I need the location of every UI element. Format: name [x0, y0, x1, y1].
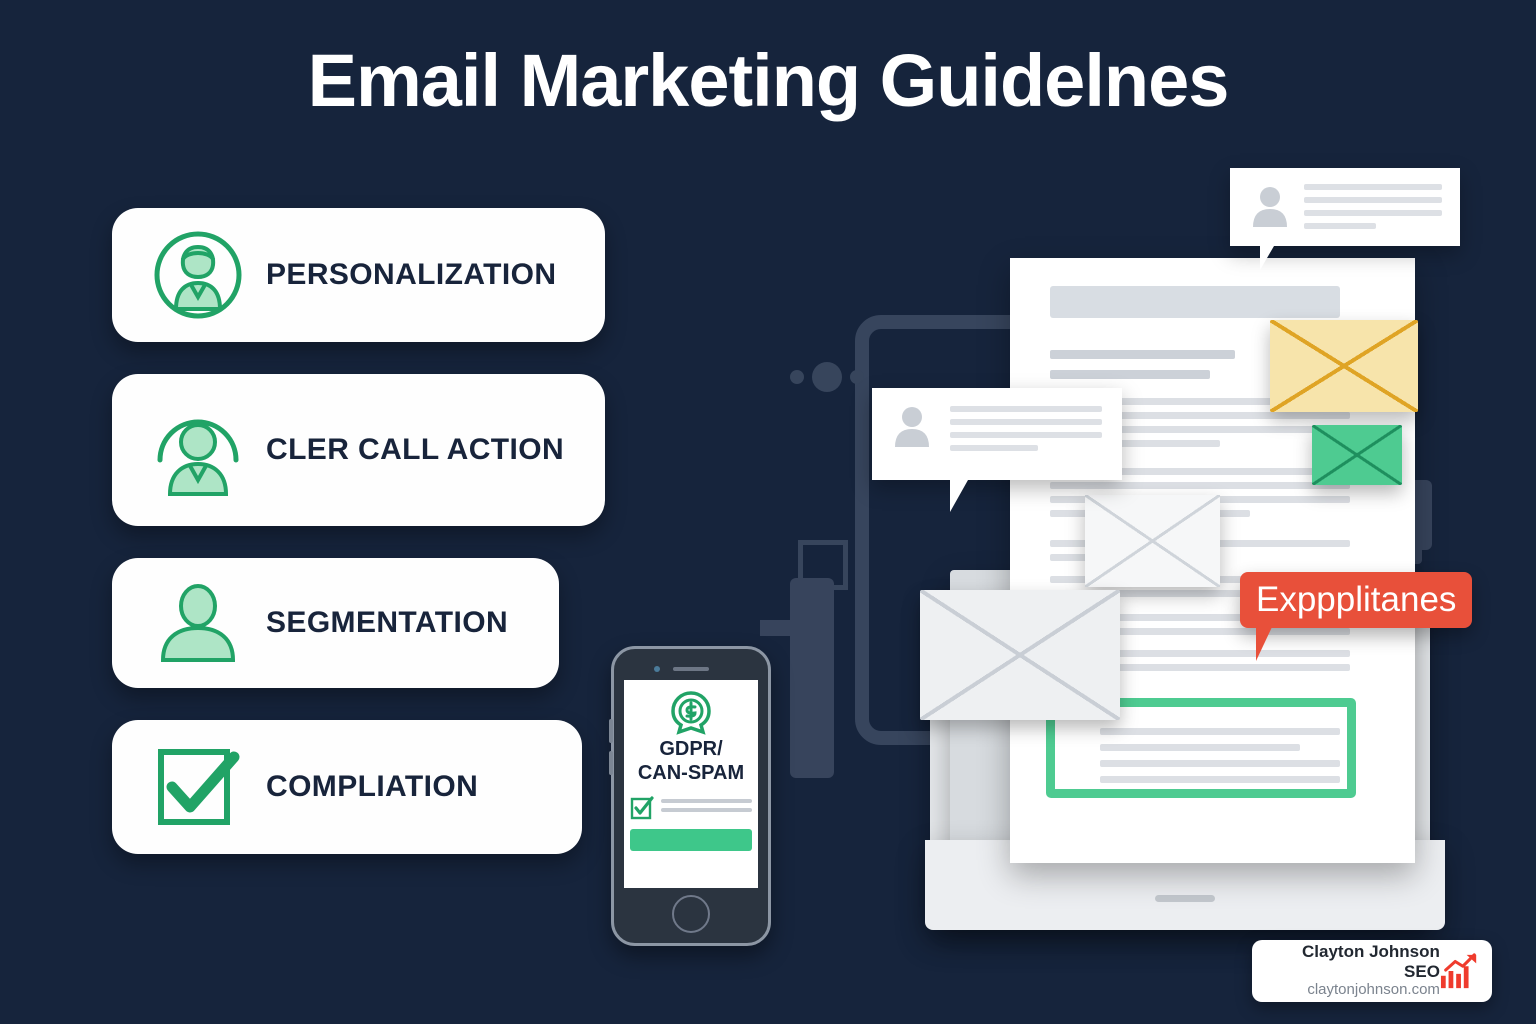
- dot-decor-3: [850, 370, 864, 384]
- bar-decor-1: [790, 578, 834, 778]
- feature-card-label: SEGMENTATION: [266, 606, 508, 640]
- bubble-tail: [1260, 246, 1274, 270]
- comment-bubble-top: [1230, 168, 1460, 246]
- phone-home-button[interactable]: [672, 895, 710, 933]
- phone-mockup[interactable]: GDPR/ CAN-SPAM: [611, 646, 771, 946]
- cta-line: [1100, 760, 1340, 767]
- envelope-fold: [1270, 320, 1418, 412]
- feature-card-list: PERSONALIZATION CLER CALL ACTION SEG: [112, 208, 605, 886]
- brand-url: claytonjohnson.com: [1270, 981, 1440, 1000]
- cta-line: [1100, 776, 1340, 783]
- doc-line: [1050, 350, 1235, 359]
- phone-title-line1: GDPR/: [659, 738, 722, 760]
- email-illustration: Exppplitanes: [760, 140, 1536, 930]
- phone-submit-button[interactable]: [630, 829, 752, 851]
- phone-consent-text-lines: [661, 799, 752, 817]
- feature-card-personalization[interactable]: PERSONALIZATION: [112, 208, 605, 342]
- checkbox-check-icon: [146, 735, 250, 839]
- doc-line: [1050, 482, 1350, 489]
- dot-decor-2: [812, 362, 842, 392]
- phone-volume-down-button[interactable]: [609, 751, 613, 775]
- cta-line: [1100, 744, 1300, 751]
- avatar-icon: [1250, 185, 1290, 227]
- envelope-fold: [920, 590, 1120, 720]
- avatar-icon: [892, 405, 932, 447]
- cta-line: [1100, 728, 1340, 735]
- brand-name: Clayton Johnson SEO: [1270, 942, 1440, 981]
- phone-camera-icon: [654, 666, 660, 672]
- user-icon: [146, 571, 250, 675]
- bar-chart-arrow-icon: [1440, 952, 1478, 990]
- feature-card-segmentation[interactable]: SEGMENTATION: [112, 558, 559, 688]
- bar-decor-2: [760, 620, 810, 636]
- feature-card-label: PERSONALIZATION: [266, 258, 556, 292]
- phone-consent-row[interactable]: [630, 796, 752, 820]
- phone-speaker: [673, 667, 709, 671]
- page-title: Email Marketing Guidelnes: [0, 38, 1536, 123]
- doc-header-block: [1050, 286, 1340, 318]
- doc-line: [1050, 370, 1210, 379]
- user-circle-icon: [146, 398, 250, 502]
- phone-volume-up-button[interactable]: [609, 719, 613, 743]
- bubble-tail: [950, 480, 968, 512]
- brand-logo-badge[interactable]: Clayton Johnson SEO claytonjohnson.com: [1252, 940, 1492, 1002]
- white-envelope-center: [1085, 495, 1220, 587]
- feature-card-label: COMPLIATION: [266, 770, 478, 804]
- envelope-fold: [1312, 425, 1402, 485]
- phone-screen[interactable]: GDPR/ CAN-SPAM: [624, 680, 758, 888]
- feature-card-compliation[interactable]: COMPLIATION: [112, 720, 582, 854]
- seal-dollar-icon: [668, 690, 714, 736]
- brand-text: Clayton Johnson SEO claytonjohnson.com: [1270, 942, 1440, 1000]
- bubble-text-lines: [950, 406, 1102, 458]
- comment-bubble-left: [872, 388, 1122, 480]
- yellow-envelope: [1270, 320, 1418, 412]
- green-envelope: [1312, 425, 1402, 485]
- callout-tail: [1256, 627, 1272, 661]
- phone-title-line2: CAN-SPAM: [638, 762, 744, 784]
- monitor-indicator: [1155, 895, 1215, 902]
- user-circle-icon: [146, 223, 250, 327]
- bubble-text-lines: [1304, 184, 1442, 236]
- checkbox-check-icon[interactable]: [630, 796, 654, 820]
- callout-badge: Exppplitanes: [1240, 572, 1472, 628]
- envelope-fold: [1085, 495, 1220, 587]
- white-envelope-left: [920, 590, 1120, 720]
- infographic-canvas: Email Marketing Guidelnes: [0, 0, 1536, 1024]
- feature-card-label: CLER CALL ACTION: [266, 433, 564, 467]
- dot-decor-1: [790, 370, 804, 384]
- feature-card-cler-call-action[interactable]: CLER CALL ACTION: [112, 374, 605, 526]
